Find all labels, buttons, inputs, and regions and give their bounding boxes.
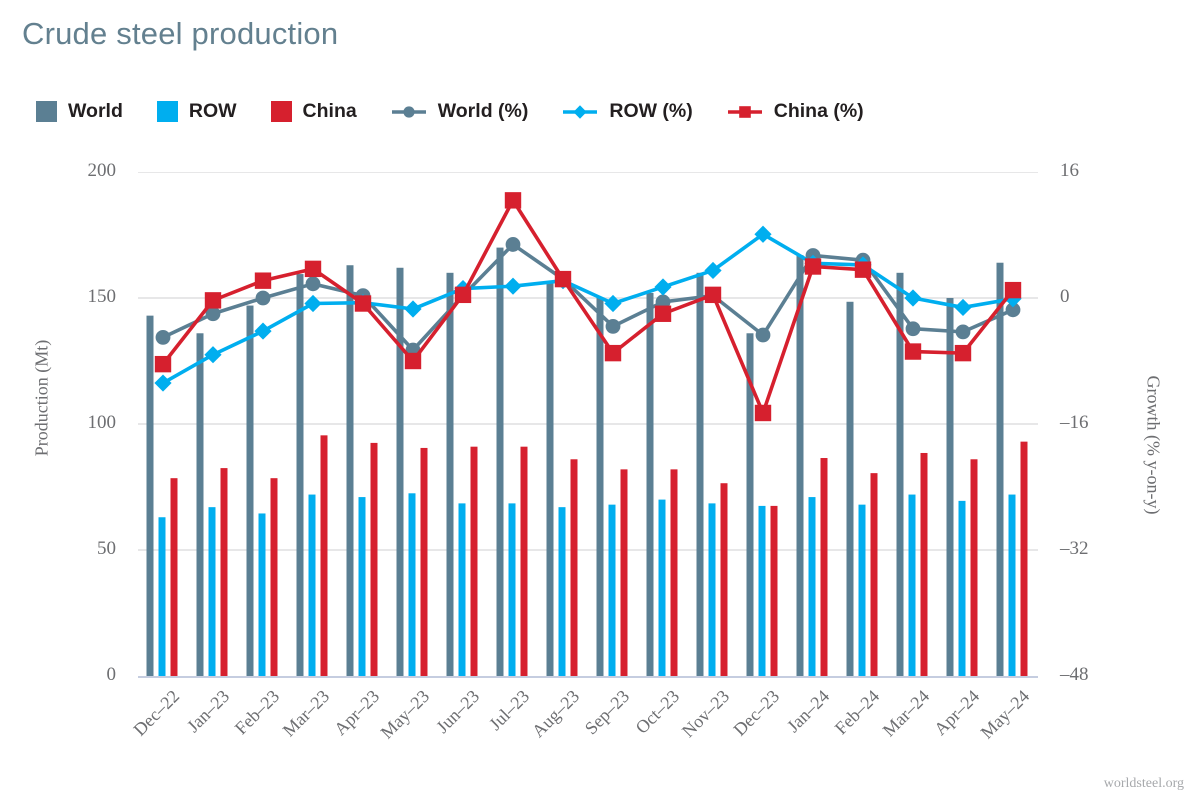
bar-world [347, 265, 354, 676]
legend-item-label: ROW (%) [609, 100, 692, 123]
bar-world [797, 255, 804, 676]
data-point-square [455, 287, 471, 303]
bar-world [197, 333, 204, 676]
x-tick-label: Feb–24 [831, 686, 884, 739]
bar-china [921, 453, 928, 676]
bar-row [159, 517, 166, 676]
data-point-square [905, 343, 921, 359]
data-point-diamond [404, 300, 421, 317]
data-point-circle [156, 330, 171, 345]
data-point-square [1005, 282, 1021, 298]
y-axis-label-left-text: Production (Mt) [32, 340, 53, 457]
bar-row [359, 497, 366, 676]
line-series-china [155, 192, 1021, 421]
bar-row [659, 500, 666, 676]
data-point-square [355, 295, 371, 311]
legend-item-row[interactable]: ROW (%) [562, 100, 692, 123]
bar-china [221, 468, 228, 676]
x-tick-label: Jan–23 [183, 686, 234, 737]
data-point-square [855, 261, 871, 277]
bar-world [547, 283, 554, 676]
y-tick-left: 100 [0, 412, 116, 434]
x-tick-label: May–23 [377, 686, 434, 743]
x-tick-label: Jun–23 [432, 686, 484, 738]
bar-row [609, 505, 616, 676]
y-tick-left: 200 [0, 160, 116, 182]
bar-world [497, 248, 504, 676]
bar-row [809, 497, 816, 676]
bar-china [371, 443, 378, 676]
line-square-marker-icon [727, 103, 763, 121]
bar-row [559, 507, 566, 676]
x-tick-label: Dec–23 [729, 686, 783, 740]
page-title: Crude steel production [22, 16, 338, 52]
data-point-square [605, 345, 621, 361]
legend-item-label: World (%) [438, 100, 529, 123]
data-point-diamond [954, 299, 971, 316]
x-tick-label: Sep–23 [581, 686, 634, 739]
data-point-square [755, 405, 771, 421]
bar-china [871, 473, 878, 676]
bar-row [1009, 495, 1016, 676]
bar-row [759, 506, 766, 676]
plot-area [138, 172, 1038, 676]
bar-china [321, 435, 328, 676]
bar-row [259, 513, 266, 676]
x-tick-label: Apr–23 [330, 686, 384, 740]
y-tick-left: 0 [0, 664, 116, 686]
bar-row [909, 495, 916, 676]
y-tick-right: –48 [1060, 664, 1089, 686]
bar-world [247, 306, 254, 676]
legend-item-world[interactable]: World (%) [391, 100, 529, 123]
y-axis-label-right: Growth (% y-on-y) [1140, 280, 1166, 610]
bar-world [697, 273, 704, 676]
x-tick-label: Aug–23 [528, 686, 584, 742]
bar-china [471, 447, 478, 676]
y-tick-left: 150 [0, 286, 116, 308]
legend-item-china[interactable]: China [271, 100, 357, 123]
bar-row [709, 503, 716, 676]
source-credit: worldsteel.org [1104, 776, 1184, 792]
bar-row [459, 503, 466, 676]
bar-row [509, 503, 516, 676]
legend-item-world[interactable]: World [36, 100, 123, 123]
y-tick-right: 16 [1060, 160, 1079, 182]
legend-item-label: China (%) [774, 100, 864, 123]
data-point-square [405, 353, 421, 369]
y-tick-right: 0 [1060, 286, 1070, 308]
chart-legend: WorldROWChinaWorld (%)ROW (%)China (%) [36, 100, 898, 123]
legend-item-row[interactable]: ROW [157, 100, 237, 123]
data-point-circle [906, 321, 921, 336]
x-tick-label: Jan–24 [783, 686, 834, 737]
bar-china [271, 478, 278, 676]
data-point-circle [306, 276, 321, 291]
bar-world [847, 302, 854, 676]
data-point-square [505, 192, 521, 208]
bar-china [971, 459, 978, 676]
data-point-diamond [154, 374, 171, 391]
x-tick-label: May–24 [977, 686, 1034, 743]
bar-world [997, 263, 1004, 676]
x-tick-label: Nov–23 [678, 686, 734, 742]
y-axis-label-right-text: Growth (% y-on-y) [1143, 376, 1164, 515]
series-line [163, 200, 1013, 413]
bar-china [621, 469, 628, 676]
legend-item-label: ROW [189, 100, 237, 123]
bar-world [597, 298, 604, 676]
data-point-square [655, 306, 671, 322]
x-tick-label: Mar–23 [279, 686, 334, 741]
line-circle-marker-icon [391, 103, 427, 121]
bar-row [859, 505, 866, 676]
bar-china [671, 469, 678, 676]
data-point-diamond [504, 278, 521, 295]
bar-china [571, 459, 578, 676]
data-point-circle [606, 319, 621, 334]
data-point-circle [956, 324, 971, 339]
legend-item-label: China [303, 100, 357, 123]
bar-china [421, 448, 428, 676]
bar-china [721, 483, 728, 676]
bar-china [1021, 442, 1028, 676]
x-tick-label: Oct–23 [632, 686, 684, 738]
data-point-square [255, 272, 271, 288]
line-series-row [154, 226, 1021, 392]
chart-canvas [138, 172, 1038, 678]
bar-row [959, 501, 966, 676]
bar-row [209, 507, 216, 676]
bar-world [447, 273, 454, 676]
bar-row [409, 493, 416, 676]
x-tick-label: Apr–24 [930, 686, 984, 740]
x-tick-label: Mar–24 [879, 686, 934, 741]
data-point-square [555, 271, 571, 287]
data-point-diamond [654, 278, 671, 295]
bar-china [821, 458, 828, 676]
legend-item-label: World [68, 100, 123, 123]
bar-world [147, 316, 154, 676]
data-point-square [805, 258, 821, 274]
x-tick-label: Jul–23 [485, 686, 534, 735]
bar-world [397, 268, 404, 676]
data-point-square [955, 345, 971, 361]
bar-china [771, 506, 778, 676]
bar-china [521, 447, 528, 676]
x-tick-label: Feb–23 [231, 686, 284, 739]
bar-row [309, 495, 316, 676]
data-point-diamond [254, 322, 271, 339]
data-point-square [155, 356, 171, 372]
data-point-square [705, 287, 721, 303]
y-tick-right: –16 [1060, 412, 1089, 434]
bar-world [297, 274, 304, 676]
data-point-square [305, 261, 321, 277]
legend-item-china[interactable]: China (%) [727, 100, 864, 123]
data-point-circle [256, 291, 271, 306]
line-diamond-marker-icon [562, 103, 598, 121]
data-point-square [205, 292, 221, 308]
data-point-circle [506, 237, 521, 252]
y-tick-right: –32 [1060, 538, 1089, 560]
bar-china [171, 478, 178, 676]
data-point-circle [756, 328, 771, 343]
y-tick-left: 50 [0, 538, 116, 560]
square-swatch-icon [157, 101, 178, 122]
square-swatch-icon [271, 101, 292, 122]
square-swatch-icon [36, 101, 57, 122]
x-tick-label: Dec–22 [129, 686, 183, 740]
bar-world [947, 298, 954, 676]
data-point-diamond [204, 346, 221, 363]
bar-world [647, 293, 654, 676]
